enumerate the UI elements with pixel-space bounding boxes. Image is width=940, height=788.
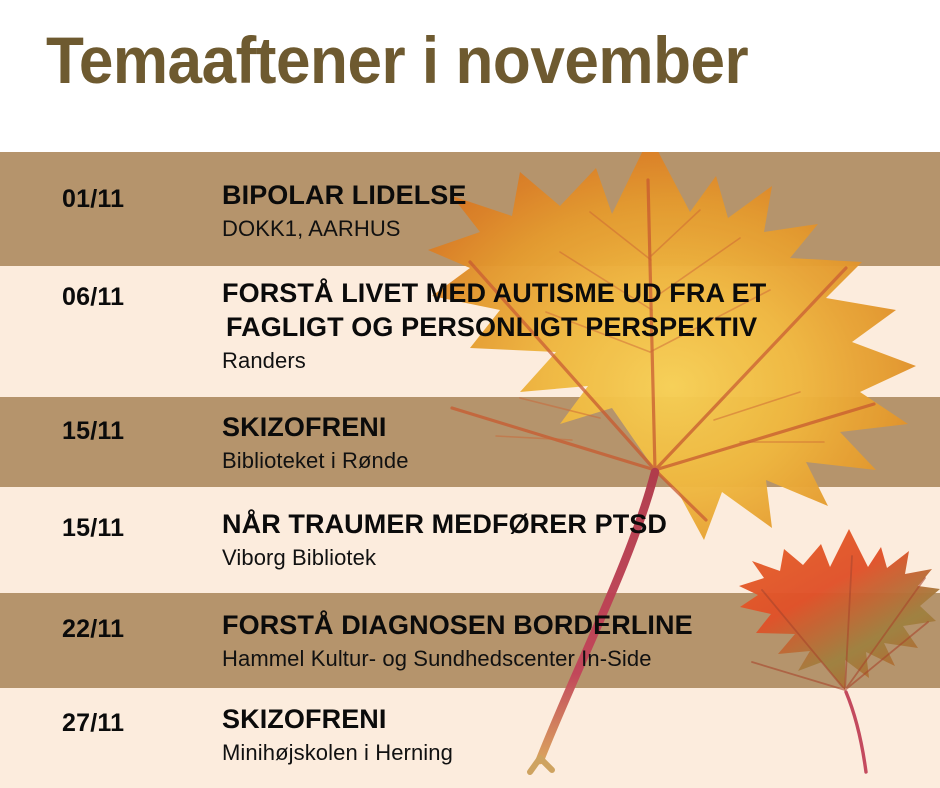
event-title-line: FORSTÅ DIAGNOSEN BORDERLINE bbox=[222, 610, 693, 640]
event-row-1[interactable]: 01/11 BIPOLAR LIDELSE DOKK1, AARHUS bbox=[0, 152, 940, 266]
event-title-line: SKIZOFRENI bbox=[222, 412, 387, 442]
event-title-line: BIPOLAR LIDELSE bbox=[222, 180, 467, 210]
event-date: 27/11 bbox=[62, 709, 124, 738]
event-row-2[interactable]: 06/11 FORSTÅ LIVET MED AUTISME UD FRA ET… bbox=[0, 266, 940, 397]
event-venue: Hammel Kultur- og Sundhedscenter In-Side bbox=[222, 645, 922, 674]
event-title-line: NÅR TRAUMER MEDFØRER PTSD bbox=[222, 509, 667, 539]
event-date: 15/11 bbox=[62, 417, 124, 446]
event-title: SKIZOFRENI bbox=[222, 702, 922, 736]
event-row-4[interactable]: 15/11 NÅR TRAUMER MEDFØRER PTSD Viborg B… bbox=[0, 487, 940, 593]
event-body: BIPOLAR LIDELSE DOKK1, AARHUS bbox=[222, 178, 922, 244]
event-date: 22/11 bbox=[62, 615, 124, 644]
event-title: NÅR TRAUMER MEDFØRER PTSD bbox=[222, 507, 922, 541]
event-date: 15/11 bbox=[62, 514, 124, 543]
event-title-line: FORSTÅ LIVET MED AUTISME UD FRA ET bbox=[222, 278, 766, 308]
event-body: SKIZOFRENI Minihøjskolen i Herning bbox=[222, 702, 922, 768]
event-title-line: SKIZOFRENI bbox=[222, 704, 387, 734]
event-title: BIPOLAR LIDELSE bbox=[222, 178, 922, 212]
event-row-5[interactable]: 22/11 FORSTÅ DIAGNOSEN BORDERLINE Hammel… bbox=[0, 593, 940, 688]
event-date: 01/11 bbox=[62, 185, 124, 214]
event-body: FORSTÅ LIVET MED AUTISME UD FRA ET FAGLI… bbox=[222, 276, 922, 376]
event-venue: Biblioteket i Rønde bbox=[222, 447, 922, 476]
event-venue: Randers bbox=[222, 347, 922, 376]
event-title: SKIZOFRENI bbox=[222, 410, 922, 444]
poster-canvas: Temaaftener i november 01/11 BIPOLAR LID… bbox=[0, 0, 940, 788]
event-row-6[interactable]: 27/11 SKIZOFRENI Minihøjskolen i Herning bbox=[0, 688, 940, 788]
event-body: SKIZOFRENI Biblioteket i Rønde bbox=[222, 410, 922, 476]
event-date: 06/11 bbox=[62, 283, 124, 312]
poster-header: Temaaftener i november bbox=[0, 0, 940, 152]
page-title: Temaaftener i november bbox=[46, 26, 748, 95]
event-row-3[interactable]: 15/11 SKIZOFRENI Biblioteket i Rønde bbox=[0, 397, 940, 487]
event-title: FORSTÅ DIAGNOSEN BORDERLINE bbox=[222, 608, 922, 642]
event-title-line: FAGLIGT OG PERSONLIGT PERSPEKTIV bbox=[222, 310, 922, 344]
event-venue: DOKK1, AARHUS bbox=[222, 215, 922, 244]
event-body: NÅR TRAUMER MEDFØRER PTSD Viborg Bibliot… bbox=[222, 507, 922, 573]
event-venue: Minihøjskolen i Herning bbox=[222, 739, 922, 768]
event-venue: Viborg Bibliotek bbox=[222, 544, 922, 573]
event-body: FORSTÅ DIAGNOSEN BORDERLINE Hammel Kultu… bbox=[222, 608, 922, 674]
event-title: FORSTÅ LIVET MED AUTISME UD FRA ET FAGLI… bbox=[222, 276, 922, 344]
